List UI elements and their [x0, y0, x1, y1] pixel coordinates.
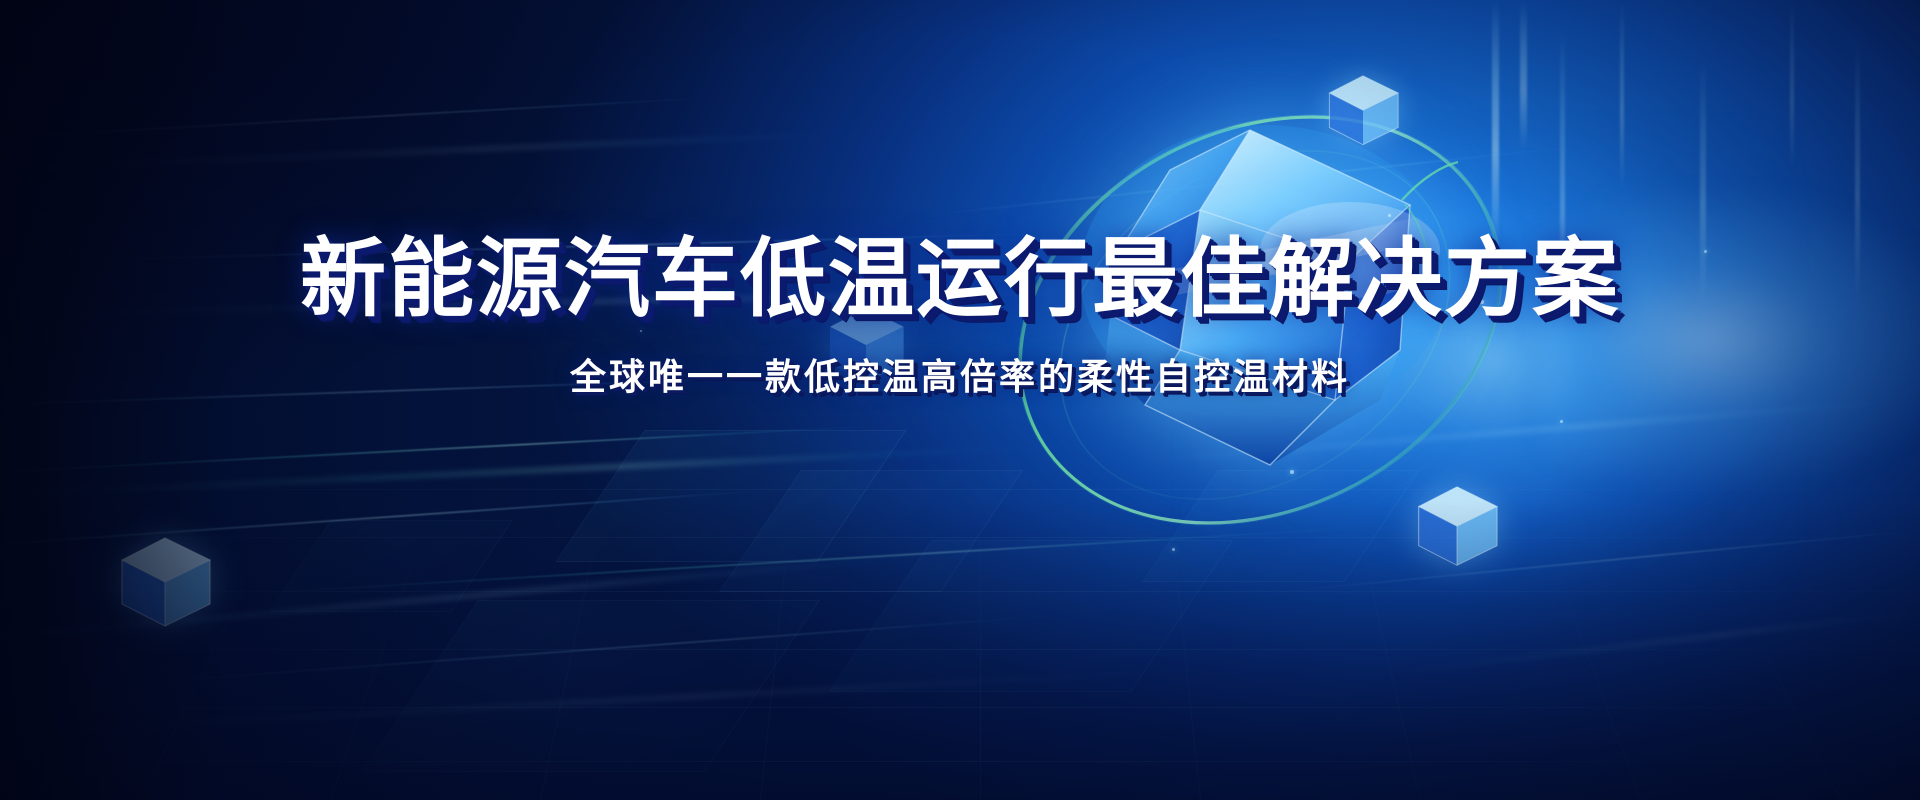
page-title: 新能源汽车低温运行最佳解决方案	[0, 236, 1920, 322]
page-subtitle: 全球唯一一款低控温高倍率的柔性自控温材料	[0, 348, 1920, 400]
vignette	[0, 0, 1920, 800]
banner-text-block: 新能源汽车低温运行最佳解决方案 全球唯一一款低控温高倍率的柔性自控温材料	[0, 236, 1920, 400]
hero-banner: 新能源汽车低温运行最佳解决方案 全球唯一一款低控温高倍率的柔性自控温材料	[0, 0, 1920, 800]
